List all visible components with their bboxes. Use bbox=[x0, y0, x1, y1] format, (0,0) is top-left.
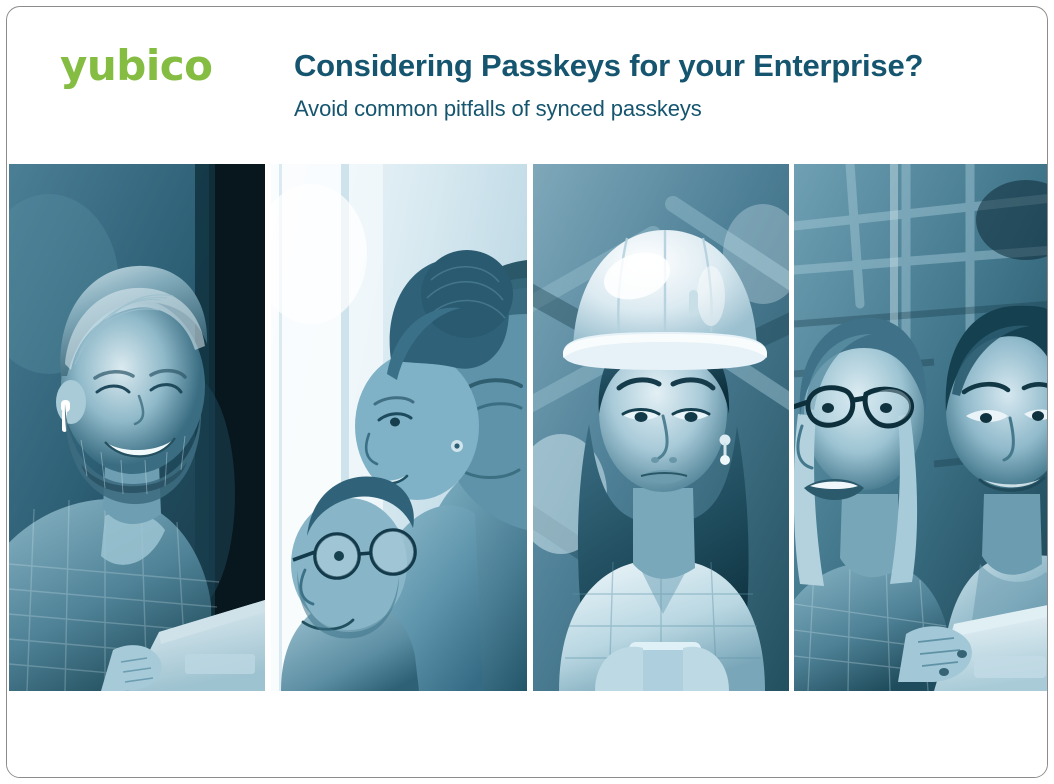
footer-whitespace bbox=[7, 697, 1047, 778]
slide-card: yubico Considering Passkeys for your Ent… bbox=[6, 6, 1048, 778]
photo-1-graphic bbox=[9, 164, 265, 691]
title-block: Considering Passkeys for your Enterprise… bbox=[294, 47, 1014, 123]
page-title: Considering Passkeys for your Enterprise… bbox=[294, 47, 1014, 85]
photo-panel-man-with-earbuds bbox=[9, 164, 265, 691]
photo-panel-colleagues-at-laptop bbox=[794, 164, 1048, 691]
photo-2-graphic bbox=[271, 164, 527, 691]
page-subtitle: Avoid common pitfalls of synced passkeys bbox=[294, 95, 1014, 123]
photo-4-graphic bbox=[794, 164, 1048, 691]
slide-header: yubico Considering Passkeys for your Ent… bbox=[7, 7, 1047, 157]
photo-panel-hardhat-woman bbox=[533, 164, 789, 691]
photo-panel-three-colleagues bbox=[271, 164, 527, 691]
photo-3-graphic bbox=[533, 164, 789, 691]
photo-strip bbox=[7, 164, 1048, 697]
yubico-logo: yubico bbox=[60, 45, 213, 87]
